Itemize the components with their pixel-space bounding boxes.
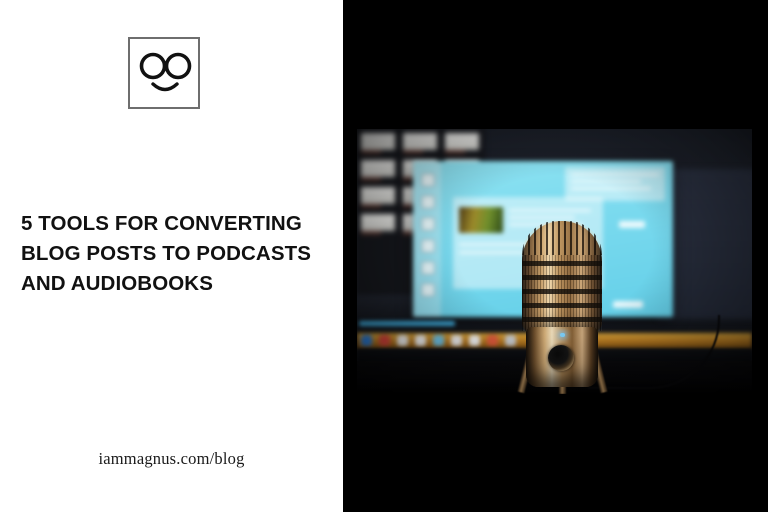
podcast-microphone-photo [357, 129, 752, 394]
smiling-face-with-glasses-icon [128, 37, 200, 109]
brand-logo [128, 37, 200, 109]
mic-gain-knob [548, 345, 574, 371]
page-title: 5 TOOLS FOR CONVERTING BLOG POSTS TO POD… [21, 209, 331, 299]
browser-sidebar [413, 161, 441, 317]
right-image-panel [343, 0, 768, 512]
site-url: iammagnus.com/blog [0, 449, 343, 469]
condenser-microphone [509, 221, 615, 394]
progress-bar [359, 321, 455, 326]
mic-body [526, 327, 598, 387]
blog-promo-card: 5 TOOLS FOR CONVERTING BLOG POSTS TO POD… [0, 0, 768, 512]
left-content-panel: 5 TOOLS FOR CONVERTING BLOG POSTS TO POD… [0, 0, 343, 512]
mic-power-led [560, 333, 565, 337]
photo-scene [357, 129, 752, 394]
mic-grille-head [522, 221, 602, 331]
